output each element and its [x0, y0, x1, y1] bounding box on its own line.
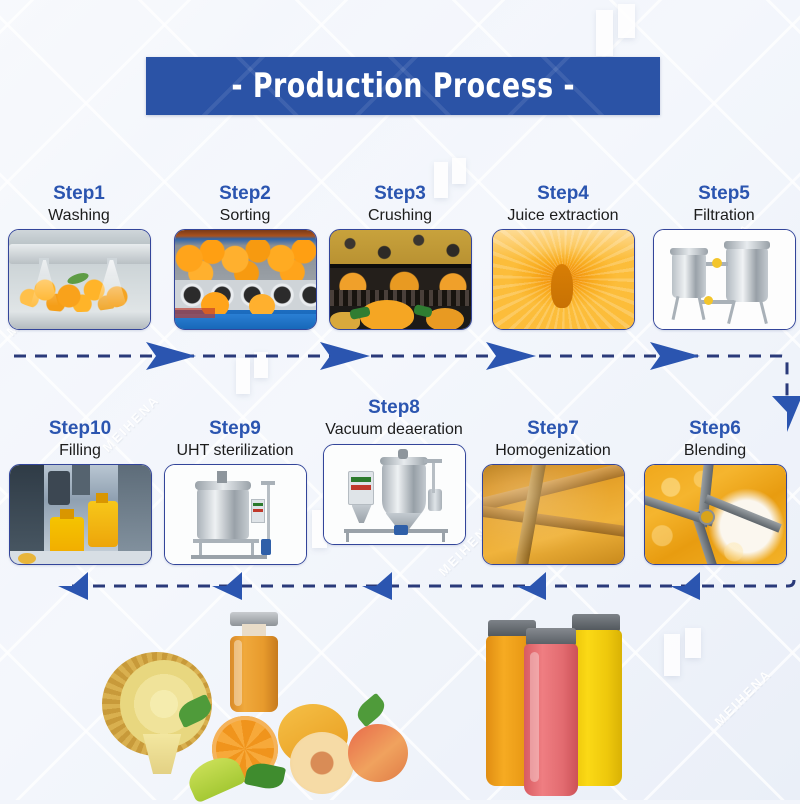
- step-image-juice-extraction[interactable]: [492, 229, 635, 330]
- step-label: UHT sterilization: [160, 441, 310, 460]
- step-number: Step1: [4, 183, 154, 205]
- step-label: Sorting: [170, 206, 320, 225]
- step-label: Vacuum deaeration: [319, 420, 469, 440]
- photo-vacuum-deaeration: [324, 445, 465, 544]
- step-number: Step4: [488, 183, 638, 205]
- step-6[interactable]: Step6 Blending: [640, 418, 790, 565]
- photo-juice-extraction: [493, 230, 634, 329]
- step-8[interactable]: Step8 Vacuum deaeration: [319, 397, 469, 545]
- step-label: Blending: [640, 441, 790, 460]
- photo-filling: [10, 465, 151, 564]
- step-image-blending[interactable]: [644, 464, 787, 565]
- step-5[interactable]: Step5 Filtration: [649, 183, 799, 330]
- step-label: Washing: [4, 206, 154, 225]
- step-image-washing[interactable]: [8, 229, 151, 330]
- step-number: Step9: [160, 418, 310, 440]
- photo-homogenization: [483, 465, 624, 564]
- step-2[interactable]: Step2 Sorting: [170, 183, 320, 330]
- step-image-filtration[interactable]: [653, 229, 796, 330]
- bottom-right-product-photo: [470, 608, 700, 800]
- step-10[interactable]: Step10 Filling: [5, 418, 155, 565]
- step-image-sorting[interactable]: [174, 229, 317, 330]
- step-label: Filling: [5, 441, 155, 460]
- photo-filtration: [654, 230, 795, 329]
- step-number: Step2: [170, 183, 320, 205]
- photo-uht-sterilization: [165, 465, 306, 564]
- step-image-uht-sterilization[interactable]: [164, 464, 307, 565]
- photo-crushing: [330, 230, 471, 329]
- step-number: Step3: [325, 183, 475, 205]
- step-3[interactable]: Step3 Crushing: [325, 183, 475, 330]
- step-number: Step5: [649, 183, 799, 205]
- step-number: Step8: [319, 397, 469, 419]
- step-label: Filtration: [649, 206, 799, 225]
- step-number: Step6: [640, 418, 790, 440]
- step-9[interactable]: Step9 UHT sterilization: [160, 418, 310, 565]
- step-number: Step10: [5, 418, 155, 440]
- step-label: Crushing: [325, 206, 475, 225]
- step-1[interactable]: Step1 Washing: [4, 183, 154, 330]
- step-image-homogenization[interactable]: [482, 464, 625, 565]
- photo-blending: [645, 465, 786, 564]
- step-label: Juice extraction: [488, 206, 638, 225]
- step-7[interactable]: Step7 Homogenization: [478, 418, 628, 565]
- step-label: Homogenization: [478, 441, 628, 460]
- step-image-filling[interactable]: [9, 464, 152, 565]
- step-4[interactable]: Step4 Juice extraction: [488, 183, 638, 330]
- step-image-crushing[interactable]: [329, 229, 472, 330]
- bottom-left-product-photo: [66, 604, 426, 800]
- photo-washing: [9, 230, 150, 329]
- photo-sorting: [175, 230, 316, 329]
- step-image-vacuum-deaeration[interactable]: [323, 444, 466, 545]
- step-number: Step7: [478, 418, 628, 440]
